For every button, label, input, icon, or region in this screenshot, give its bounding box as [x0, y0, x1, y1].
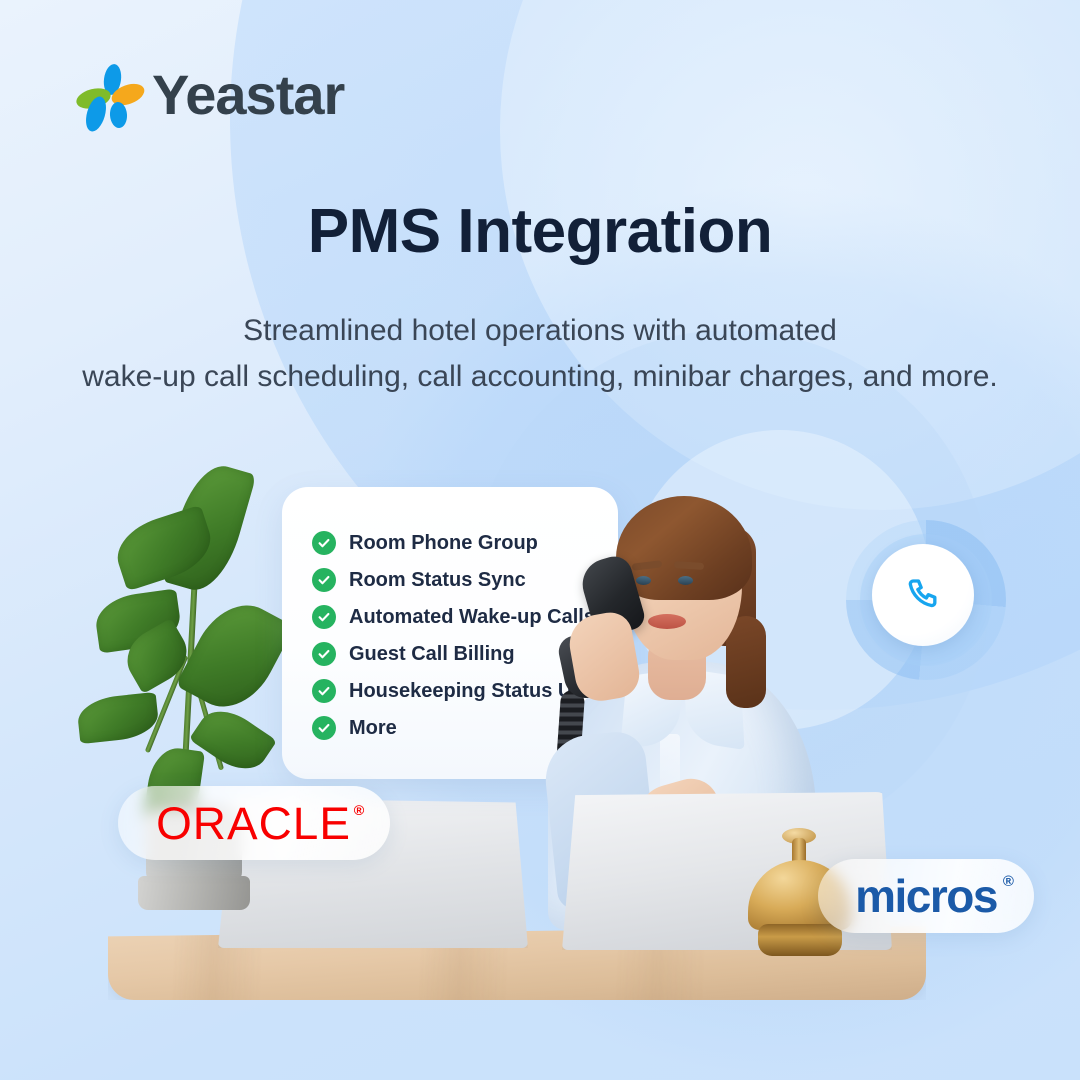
brand-logo[interactable]: Yeastar — [78, 64, 344, 130]
subtitle-line-1: Streamlined hotel operations with automa… — [0, 308, 1080, 354]
micros-partner-pill[interactable]: micros ® — [818, 859, 1034, 933]
phone-badge — [846, 520, 1018, 680]
feature-label: Room Phone Group — [349, 532, 538, 555]
phone-handset-icon — [903, 575, 943, 615]
subtitle-line-2: wake-up call scheduling, call accounting… — [0, 354, 1080, 400]
page-subtitle: Streamlined hotel operations with automa… — [0, 308, 1080, 399]
micros-label: micros — [855, 870, 997, 922]
eye-left — [636, 576, 651, 585]
brand-wordmark: Yeastar — [152, 67, 344, 127]
lips — [648, 614, 686, 629]
plant-pot-base — [138, 876, 250, 910]
feature-label: More — [349, 717, 397, 740]
eye-right — [678, 576, 693, 585]
micros-registered-mark: ® — [1003, 874, 1014, 889]
check-circle-icon — [312, 568, 336, 592]
oracle-label: ORACLE — [157, 798, 352, 849]
yeastar-flower-icon — [78, 64, 138, 130]
poster-canvas: Yeastar PMS Integration Streamlined hote… — [0, 0, 1080, 1080]
bell-base — [758, 924, 842, 956]
oracle-registered-mark: ® — [354, 803, 366, 817]
check-circle-icon — [312, 716, 336, 740]
oracle-wordmark: ORACLE ® — [157, 801, 352, 846]
check-circle-icon — [312, 679, 336, 703]
phone-badge-disc[interactable] — [872, 544, 974, 646]
hero-scene: Room Phone Group Room Status Sync Automa… — [100, 470, 930, 1000]
micros-wordmark: micros ® — [855, 873, 997, 919]
feature-label: Guest Call Billing — [349, 643, 515, 666]
check-circle-icon — [312, 642, 336, 666]
check-circle-icon — [312, 531, 336, 555]
check-circle-icon — [312, 605, 336, 629]
feature-label: Room Status Sync — [349, 569, 526, 592]
page-title: PMS Integration — [0, 196, 1080, 267]
oracle-partner-pill[interactable]: ORACLE ® — [118, 786, 390, 860]
